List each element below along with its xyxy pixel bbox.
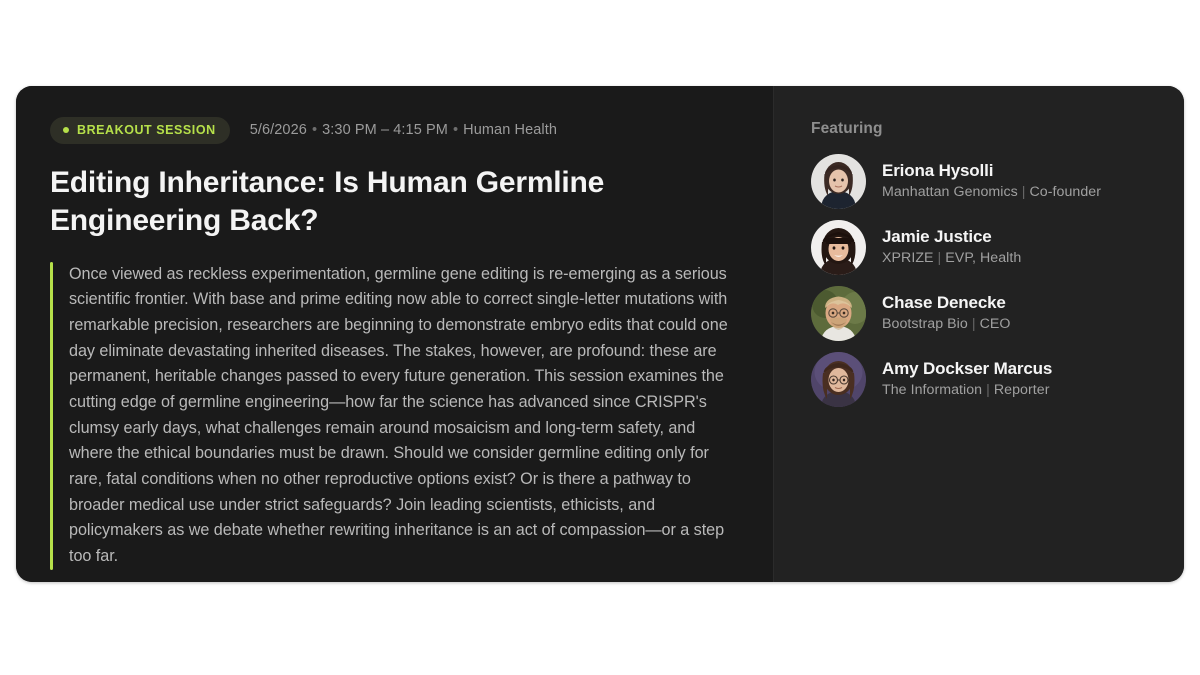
speaker-title: CEO xyxy=(980,316,1011,332)
featuring-heading: Featuring xyxy=(811,120,1154,138)
speaker-name: Chase Denecke xyxy=(882,293,1010,313)
session-track: Human Health xyxy=(463,122,557,138)
speaker-name: Eriona Hysolli xyxy=(882,161,1101,181)
speaker-name: Amy Dockser Marcus xyxy=(882,359,1052,379)
speaker-role: XPRIZE|EVP, Health xyxy=(882,250,1021,268)
session-meta-text: 5/6/2026•3:30 PM – 4:15 PM•Human Health xyxy=(250,122,557,138)
speaker-name: Jamie Justice xyxy=(882,227,1021,247)
speaker-list-item[interactable]: Eriona Hysolli Manhattan Genomics|Co-fou… xyxy=(811,154,1154,209)
meta-separator-1: • xyxy=(307,122,322,138)
speaker-info: Eriona Hysolli Manhattan Genomics|Co-fou… xyxy=(882,161,1101,201)
session-type-badge[interactable]: BREAKOUT SESSION xyxy=(50,117,230,144)
speaker-list: Eriona Hysolli Manhattan Genomics|Co-fou… xyxy=(811,154,1154,407)
session-description-block: Once viewed as reckless experimentation,… xyxy=(50,262,739,570)
speaker-organization: The Information xyxy=(882,382,982,398)
speaker-organization: XPRIZE xyxy=(882,250,934,266)
session-main-column: BREAKOUT SESSION 5/6/2026•3:30 PM – 4:15… xyxy=(16,86,773,582)
speaker-list-item[interactable]: Chase Denecke Bootstrap Bio|CEO xyxy=(811,286,1154,341)
session-title: Editing Inheritance: Is Human Germline E… xyxy=(50,164,690,240)
speaker-role: The Information|Reporter xyxy=(882,382,1052,400)
role-separator: | xyxy=(1018,184,1030,200)
speaker-role: Bootstrap Bio|CEO xyxy=(882,316,1010,334)
speaker-organization: Bootstrap Bio xyxy=(882,316,968,332)
speaker-info: Amy Dockser Marcus The Information|Repor… xyxy=(882,359,1052,399)
speaker-title: EVP, Health xyxy=(945,250,1021,266)
status-dot-icon xyxy=(63,127,69,133)
featuring-panel: Featuring xyxy=(774,86,1184,582)
speaker-role: Manhattan Genomics|Co-founder xyxy=(882,184,1101,202)
speaker-organization: Manhattan Genomics xyxy=(882,184,1018,200)
speaker-list-item[interactable]: Amy Dockser Marcus The Information|Repor… xyxy=(811,352,1154,407)
session-description: Once viewed as reckless experimentation,… xyxy=(53,262,739,570)
avatar-amy-dockser-marcus xyxy=(811,352,866,407)
meta-separator-2: • xyxy=(448,122,463,138)
speaker-info: Jamie Justice XPRIZE|EVP, Health xyxy=(882,227,1021,267)
avatar-chase-denecke xyxy=(811,286,866,341)
session-time: 3:30 PM – 4:15 PM xyxy=(322,122,448,138)
role-separator: | xyxy=(982,382,994,398)
session-type-label: BREAKOUT SESSION xyxy=(77,124,216,137)
session-date: 5/6/2026 xyxy=(250,122,307,138)
speaker-list-item[interactable]: Jamie Justice XPRIZE|EVP, Health xyxy=(811,220,1154,275)
avatar-jamie-justice xyxy=(811,220,866,275)
role-separator: | xyxy=(934,250,946,266)
speaker-title: Co-founder xyxy=(1030,184,1101,200)
role-separator: | xyxy=(968,316,980,332)
session-meta-row: BREAKOUT SESSION 5/6/2026•3:30 PM – 4:15… xyxy=(50,116,739,144)
page-root: BREAKOUT SESSION 5/6/2026•3:30 PM – 4:15… xyxy=(0,0,1200,675)
avatar-eriona-hysolli xyxy=(811,154,866,209)
speaker-info: Chase Denecke Bootstrap Bio|CEO xyxy=(882,293,1010,333)
speaker-title: Reporter xyxy=(994,382,1050,398)
session-card[interactable]: BREAKOUT SESSION 5/6/2026•3:30 PM – 4:15… xyxy=(16,86,1184,582)
